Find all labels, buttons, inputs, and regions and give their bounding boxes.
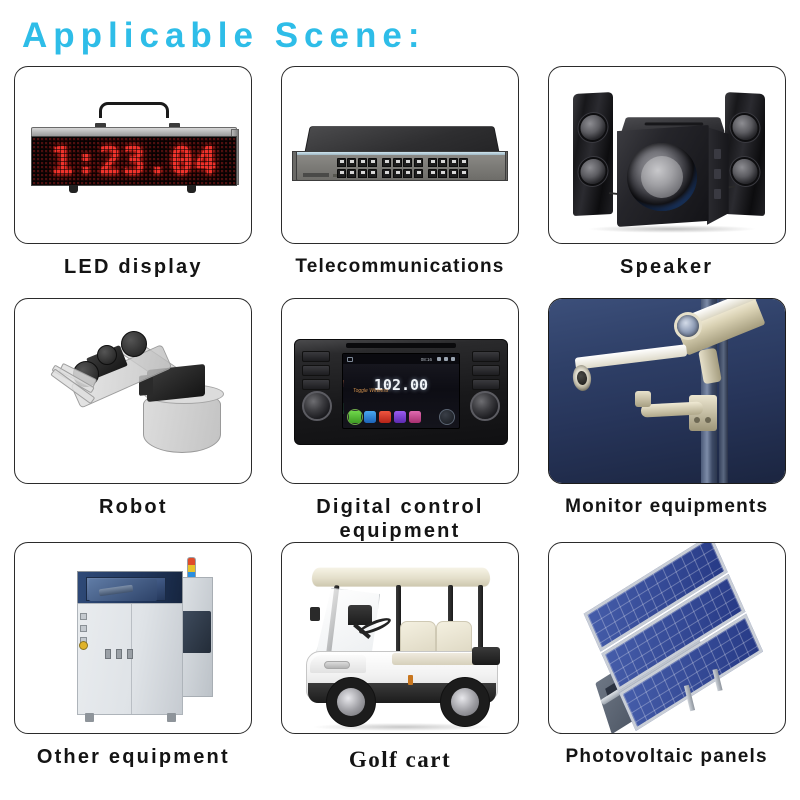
app-icon-bluetooth[interactable] — [394, 411, 406, 423]
satellite-speaker-right — [725, 92, 765, 216]
car-head-unit-icon: 08:16 102.00 Toggle Wireless — [294, 339, 508, 445]
head-unit-button[interactable] — [472, 351, 500, 362]
subwoofer — [617, 107, 729, 227]
scene-card-photovoltaic-panels[interactable] — [548, 542, 786, 734]
led-pixel-mask — [32, 137, 236, 185]
subwoofer-driver-ring — [627, 143, 697, 211]
cart-front-wheel — [326, 677, 376, 727]
switch-port-group — [337, 158, 378, 178]
cart-seat-base — [392, 653, 480, 665]
cart-side-badge — [408, 675, 413, 685]
scene-card-telecommunications[interactable] — [281, 66, 519, 244]
cart-canopy — [311, 568, 491, 587]
scene-cell-digital-control: 08:16 102.00 Toggle Wireless — [267, 298, 534, 542]
app-icon-navigation[interactable] — [364, 411, 376, 423]
scene-card-grid: 1:23.04 LED display — [0, 66, 800, 800]
app-icon-media[interactable] — [379, 411, 391, 423]
switch-port-group — [428, 158, 469, 178]
screen-status-bar: 08:16 — [343, 354, 459, 364]
head-unit-button[interactable] — [472, 365, 500, 376]
switch-port-bank — [337, 158, 469, 178]
cart-pillar — [478, 585, 483, 653]
scene-cell-speaker: Speaker — [533, 66, 800, 298]
scene-cell-golf-cart: Golf cart — [267, 542, 534, 788]
machine-foot-left — [85, 713, 94, 722]
scene-label-monitor-equipments: Monitor equipments — [542, 496, 792, 518]
scene-cell-monitor-equipments: Monitor equipments — [533, 298, 800, 542]
switch-port-group — [382, 158, 423, 178]
subwoofer-side-panel — [707, 127, 729, 225]
scene-cell-photovoltaic-panels: Photovoltaic panels — [533, 542, 800, 788]
scene-cell-led-display: 1:23.04 LED display — [0, 66, 267, 298]
head-unit-button[interactable] — [302, 351, 330, 362]
camera-lens-upper — [677, 315, 699, 337]
screen-brand-text: Toggle Wireless — [353, 388, 388, 394]
cctv-camera-icon — [549, 299, 785, 483]
machine-control-panel[interactable] — [105, 649, 133, 659]
head-unit-disc-slot — [346, 343, 456, 348]
head-unit-touchscreen[interactable]: 08:16 102.00 Toggle Wireless — [342, 353, 460, 429]
scene-label-led-display: LED display — [8, 256, 258, 280]
machine-side-buttons[interactable] — [80, 613, 87, 644]
camera-mount-joint — [635, 391, 651, 407]
head-unit-tune-knob[interactable] — [470, 391, 500, 421]
scene-label-other-equipment: Other equipment — [8, 746, 258, 770]
led-scoreboard-icon: 1:23.04 — [31, 115, 237, 187]
screen-home-icon[interactable] — [347, 357, 353, 362]
cart-rear-box — [472, 647, 500, 665]
scene-card-monitor-equipments[interactable] — [548, 298, 786, 484]
led-foot-right — [187, 185, 196, 193]
scene-card-robot[interactable] — [14, 298, 252, 484]
scene-card-speaker[interactable] — [548, 66, 786, 244]
speaker-driver — [580, 158, 605, 184]
screen-apps-button[interactable] — [439, 409, 455, 425]
app-icon-settings[interactable] — [409, 411, 421, 423]
scene-card-digital-control[interactable]: 08:16 102.00 Toggle Wireless — [281, 298, 519, 484]
scene-label-telecommunications: Telecommunications — [275, 256, 525, 278]
robotic-arm-icon — [33, 315, 233, 467]
network-switch-icon — [296, 121, 506, 191]
screen-clock: 08:16 — [421, 357, 432, 362]
head-unit-power-knob[interactable] — [302, 391, 332, 421]
subwoofer-cone — [641, 156, 683, 198]
speaker-driver — [580, 114, 605, 140]
page-title: Applicable Scene: — [22, 16, 425, 56]
industrial-machine-icon — [59, 557, 221, 725]
scene-label-robot: Robot — [8, 496, 258, 520]
switch-brand-mark — [303, 173, 329, 177]
machine-cabinet — [77, 603, 183, 715]
cart-rear-wheel — [440, 677, 490, 727]
scene-cell-robot: Robot — [0, 298, 267, 542]
scene-label-line2: equipment — [340, 520, 461, 542]
machine-foot-right — [167, 713, 176, 722]
scene-cell-telecommunications: Telecommunications — [267, 66, 534, 298]
satellite-speaker-left — [573, 92, 613, 216]
scene-cell-other-equipment: Other equipment — [0, 542, 267, 788]
scene-label-golf-cart: Golf cart — [275, 746, 525, 773]
scene-label-digital-control: Digital control equipment — [275, 496, 525, 543]
camera-body-lower — [548, 298, 653, 339]
scene-label-speaker: Speaker — [542, 256, 792, 280]
camera-sunshade-lower — [574, 344, 687, 370]
scene-card-golf-cart[interactable] — [281, 542, 519, 734]
cart-headlight — [324, 661, 350, 669]
solar-panel-icon — [569, 557, 769, 721]
scene-card-led-display[interactable]: 1:23.04 — [14, 66, 252, 244]
head-unit-button[interactable] — [302, 365, 330, 376]
machine-dark-panel — [181, 611, 211, 653]
led-foot-left — [69, 185, 78, 193]
speaker-driver — [732, 158, 757, 184]
applicable-scene-infographic: Applicable Scene: 1:23.04 — [0, 0, 800, 800]
head-unit-button[interactable] — [302, 379, 330, 390]
led-matrix-screen: 1:23.04 — [31, 136, 237, 186]
golf-cart-icon — [296, 559, 506, 719]
scene-card-other-equipment[interactable] — [14, 542, 252, 734]
scene-label-photovoltaic-panels: Photovoltaic panels — [542, 746, 792, 768]
speaker-system-icon — [565, 83, 771, 233]
switch-front-panel — [296, 151, 506, 181]
scene-label-line1: Digital control — [316, 496, 483, 518]
speaker-driver — [732, 114, 757, 140]
cart-side-mirror — [310, 607, 320, 621]
led-handle — [99, 102, 169, 118]
app-icon-android[interactable] — [349, 411, 361, 423]
head-unit-button[interactable] — [472, 379, 500, 390]
